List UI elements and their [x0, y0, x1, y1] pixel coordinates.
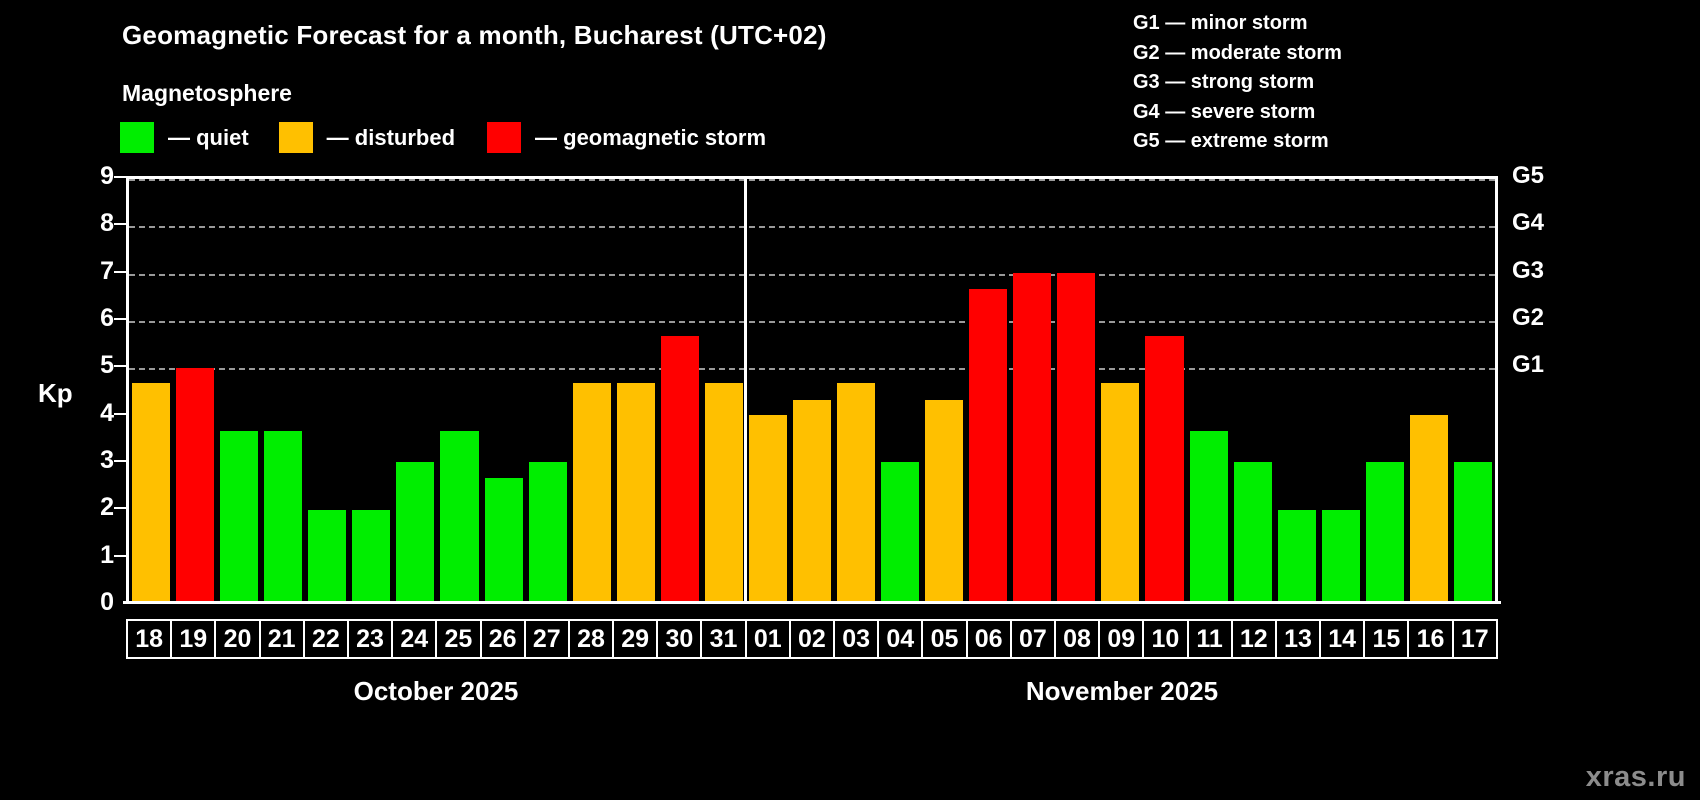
- y-tick-label-1: 1: [100, 543, 114, 568]
- bar-cell: [305, 179, 349, 604]
- y-axis-title: Kp: [38, 378, 73, 409]
- date-label-04[interactable]: 04: [877, 619, 923, 659]
- y-tick-label-6: 6: [100, 306, 114, 331]
- legend-item-geomagneticstorm: — geomagnetic storm: [487, 122, 766, 153]
- watermark: xras.ru: [1586, 761, 1686, 794]
- storm-scale-row: G3 — strong storm: [1133, 68, 1342, 98]
- bar-cell: [173, 179, 217, 604]
- bar-cell: [570, 179, 614, 604]
- bar-cell: [966, 179, 1010, 604]
- legend-item-disturbed: — disturbed: [279, 122, 455, 153]
- geomagnetic-forecast-chart: Geomagnetic Forecast for a month, Buchar…: [0, 0, 1700, 800]
- date-label-29[interactable]: 29: [612, 619, 658, 659]
- bar-20-quiet[interactable]: [220, 431, 258, 604]
- bar-12-quiet[interactable]: [1234, 462, 1272, 604]
- bar-04-quiet[interactable]: [881, 462, 919, 604]
- bar-10-storm[interactable]: [1145, 336, 1183, 604]
- bar-24-quiet[interactable]: [396, 462, 434, 604]
- date-label-11[interactable]: 11: [1187, 619, 1233, 659]
- bar-cell: [526, 179, 570, 604]
- legend-label: — geomagnetic storm: [535, 125, 766, 151]
- bar-15-quiet[interactable]: [1366, 462, 1404, 604]
- date-label-26[interactable]: 26: [480, 619, 526, 659]
- date-label-06[interactable]: 06: [966, 619, 1012, 659]
- bar-28-disturbed[interactable]: [573, 383, 611, 604]
- bar-cell: [261, 179, 305, 604]
- y-tick-mark-5: [114, 365, 126, 367]
- y-tick-mark-6: [114, 318, 126, 320]
- date-label-05[interactable]: 05: [921, 619, 967, 659]
- bar-05-disturbed[interactable]: [925, 400, 963, 604]
- legend-item-quiet: — quiet: [120, 122, 249, 153]
- y-tick-label-2: 2: [100, 495, 114, 520]
- g-level-label-G4: G4: [1512, 209, 1544, 237]
- bar-cell: [1407, 179, 1451, 604]
- date-label-09[interactable]: 09: [1098, 619, 1144, 659]
- bar-30-storm[interactable]: [661, 336, 699, 604]
- bar-cell: [437, 179, 481, 604]
- y-tick-mark-3: [114, 460, 126, 462]
- y-tick-mark-9: [114, 176, 126, 178]
- bar-cell: [1275, 179, 1319, 604]
- bar-09-disturbed[interactable]: [1101, 383, 1139, 604]
- y-tick-mark-4: [114, 413, 126, 415]
- date-label-13[interactable]: 13: [1275, 619, 1321, 659]
- bar-cell: [393, 179, 437, 604]
- bar-cell: [1010, 179, 1054, 604]
- g-level-label-G2: G2: [1512, 304, 1544, 332]
- bar-06-storm[interactable]: [969, 289, 1007, 604]
- bar-29-disturbed[interactable]: [617, 383, 655, 604]
- month-divider: [744, 178, 747, 604]
- date-label-28[interactable]: 28: [568, 619, 614, 659]
- bar-cell: [658, 179, 702, 604]
- date-label-15[interactable]: 15: [1363, 619, 1409, 659]
- date-label-12[interactable]: 12: [1231, 619, 1277, 659]
- date-label-25[interactable]: 25: [435, 619, 481, 659]
- bar-22-quiet[interactable]: [308, 510, 346, 604]
- bar-01-disturbed[interactable]: [749, 415, 787, 604]
- date-label-02[interactable]: 02: [789, 619, 835, 659]
- g-level-label-G3: G3: [1512, 257, 1544, 285]
- bar-25-quiet[interactable]: [440, 431, 478, 604]
- date-label-22[interactable]: 22: [303, 619, 349, 659]
- bar-cell: [746, 179, 790, 604]
- y-tick-label-4: 4: [100, 401, 114, 426]
- bar-18-disturbed[interactable]: [132, 383, 170, 604]
- storm-scale-row: G1 — minor storm: [1133, 9, 1342, 39]
- bar-cell: [922, 179, 966, 604]
- date-label-24[interactable]: 24: [391, 619, 437, 659]
- g-level-label-G5: G5: [1512, 162, 1544, 190]
- bar-cell: [834, 179, 878, 604]
- storm-swatch: [487, 122, 521, 153]
- date-label-31[interactable]: 31: [700, 619, 746, 659]
- bar-23-quiet[interactable]: [352, 510, 390, 604]
- bar-16-disturbed[interactable]: [1410, 415, 1448, 604]
- bar-cell: [1054, 179, 1098, 604]
- date-label-10[interactable]: 10: [1142, 619, 1188, 659]
- date-label-18[interactable]: 18: [126, 619, 172, 659]
- date-label-30[interactable]: 30: [656, 619, 702, 659]
- y-tick-label-9: 9: [100, 164, 114, 189]
- bar-cell: [702, 179, 746, 604]
- bar-cell: [1098, 179, 1142, 604]
- quiet-swatch: [120, 122, 154, 153]
- bar-07-storm[interactable]: [1013, 273, 1051, 604]
- legend-label: — disturbed: [327, 125, 455, 151]
- legend: — quiet— disturbed— geomagnetic storm: [120, 122, 766, 153]
- date-label-01[interactable]: 01: [745, 619, 791, 659]
- bar-08-storm[interactable]: [1057, 273, 1095, 604]
- x-axis-line: [123, 601, 1501, 604]
- bar-02-disturbed[interactable]: [793, 400, 831, 604]
- date-label-03[interactable]: 03: [833, 619, 879, 659]
- bar-cell: [1187, 179, 1231, 604]
- storm-scale-row: G5 — extreme storm: [1133, 127, 1342, 157]
- bar-27-quiet[interactable]: [529, 462, 567, 604]
- date-label-07[interactable]: 07: [1010, 619, 1056, 659]
- date-label-20[interactable]: 20: [214, 619, 260, 659]
- bar-cell: [790, 179, 834, 604]
- bar-cell: [878, 179, 922, 604]
- month-labels: October 2025 November 2025: [126, 676, 1498, 712]
- y-tick-mark-7: [114, 271, 126, 273]
- bar-cell: [1319, 179, 1363, 604]
- date-label-23[interactable]: 23: [347, 619, 393, 659]
- bar-cell: [1231, 179, 1275, 604]
- date-axis: 1819202122232425262728293031010203040506…: [126, 619, 1498, 659]
- y-tick-label-3: 3: [100, 448, 114, 473]
- storm-scale-row: G2 — moderate storm: [1133, 39, 1342, 69]
- legend-label: — quiet: [168, 125, 249, 151]
- bar-26-quiet[interactable]: [485, 478, 523, 604]
- g-level-label-G1: G1: [1512, 351, 1544, 379]
- bar-19-storm[interactable]: [176, 368, 214, 604]
- bar-cell: [1142, 179, 1186, 604]
- bar-31-disturbed[interactable]: [705, 383, 743, 604]
- storm-scale-legend: G1 — minor stormG2 — moderate stormG3 — …: [1133, 9, 1342, 157]
- y-tick-mark-1: [114, 555, 126, 557]
- month-label-november: November 2025: [746, 676, 1498, 707]
- bar-cell: [1451, 179, 1495, 604]
- date-label-08[interactable]: 08: [1054, 619, 1100, 659]
- magnetosphere-label: Magnetosphere: [122, 80, 292, 107]
- bar-cell: [482, 179, 526, 604]
- bar-cell: [349, 179, 393, 604]
- bar-11-quiet[interactable]: [1190, 431, 1228, 604]
- bar-17-quiet[interactable]: [1454, 462, 1492, 604]
- y-tick-mark-8: [114, 223, 126, 225]
- date-label-27[interactable]: 27: [524, 619, 570, 659]
- y-tick-label-0: 0: [100, 590, 114, 615]
- date-label-14[interactable]: 14: [1319, 619, 1365, 659]
- y-tick-label-7: 7: [100, 259, 114, 284]
- month-label-october: October 2025: [126, 676, 746, 707]
- y-axis-labels: 0123456789: [78, 176, 114, 604]
- bar-cell: [1363, 179, 1407, 604]
- bar-series: [129, 179, 1495, 604]
- bar-cell: [129, 179, 173, 604]
- disturbed-swatch: [279, 122, 313, 153]
- date-label-16[interactable]: 16: [1407, 619, 1453, 659]
- bar-14-quiet[interactable]: [1322, 510, 1360, 604]
- bar-13-quiet[interactable]: [1278, 510, 1316, 604]
- page-title: Geomagnetic Forecast for a month, Buchar…: [122, 20, 827, 51]
- date-label-21[interactable]: 21: [259, 619, 305, 659]
- bar-21-quiet[interactable]: [264, 431, 302, 604]
- y-tick-label-8: 8: [100, 211, 114, 236]
- y-tick-mark-2: [114, 507, 126, 509]
- y-tick-label-5: 5: [100, 353, 114, 378]
- storm-scale-row: G4 — severe storm: [1133, 98, 1342, 128]
- bar-cell: [217, 179, 261, 604]
- date-label-19[interactable]: 19: [170, 619, 216, 659]
- bar-cell: [614, 179, 658, 604]
- bar-03-disturbed[interactable]: [837, 383, 875, 604]
- date-label-17[interactable]: 17: [1452, 619, 1498, 659]
